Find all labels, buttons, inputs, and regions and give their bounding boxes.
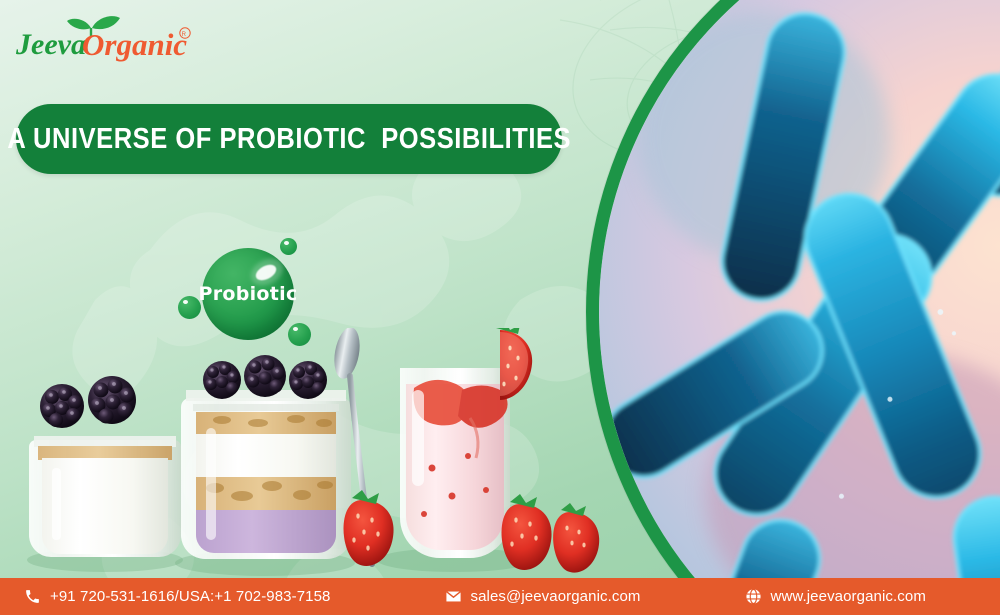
mini-bubble <box>288 323 311 346</box>
mini-bubble <box>280 238 297 255</box>
probiotic-bubble: Probiotic <box>202 248 294 340</box>
phone-icon <box>24 588 41 605</box>
phone-contact[interactable]: +91 720-531-1616/USA:+1 702-983-7158 <box>24 588 331 605</box>
probiotic-bubble-label: Probiotic <box>198 283 297 305</box>
contact-footer-bar: +91 720-531-1616/USA:+1 702-983-7158 sal… <box>0 578 1000 615</box>
svg-text:R: R <box>182 32 187 38</box>
website-url: www.jeevaorganic.com <box>771 588 926 605</box>
email-contact[interactable]: sales@jeevaorganic.com <box>445 588 641 605</box>
strawberry-yogurt-glass <box>400 328 532 558</box>
yogurt-products-photo <box>0 328 620 578</box>
promotional-banner: Jeeva Organic R A UNIVERSE OF PROBIOTIC … <box>0 0 1000 615</box>
bacteria-illustration <box>599 0 1000 615</box>
white-yogurt-jar <box>29 376 181 557</box>
page-title: A UNIVERSE OF PROBIOTIC POSSIBILITIES <box>7 123 571 156</box>
steel-spoon <box>331 328 372 564</box>
svg-text:Jeeva: Jeeva <box>15 28 86 61</box>
email-address: sales@jeevaorganic.com <box>471 588 641 605</box>
svg-text:Organic: Organic <box>82 27 187 62</box>
phone-number: +91 720-531-1616/USA:+1 702-983-7158 <box>50 588 331 605</box>
layered-parfait-jar <box>181 355 351 559</box>
probiotic-bacteria-photo <box>586 0 1000 615</box>
website-contact[interactable]: www.jeevaorganic.com <box>745 588 926 605</box>
globe-icon <box>745 588 762 605</box>
probiotic-bubble-cluster: Probiotic <box>178 238 308 348</box>
headline-banner: A UNIVERSE OF PROBIOTIC POSSIBILITIES <box>16 104 562 174</box>
envelope-icon <box>445 588 462 605</box>
brand-logo[interactable]: Jeeva Organic R <box>14 14 204 64</box>
fresh-strawberries <box>344 490 600 573</box>
